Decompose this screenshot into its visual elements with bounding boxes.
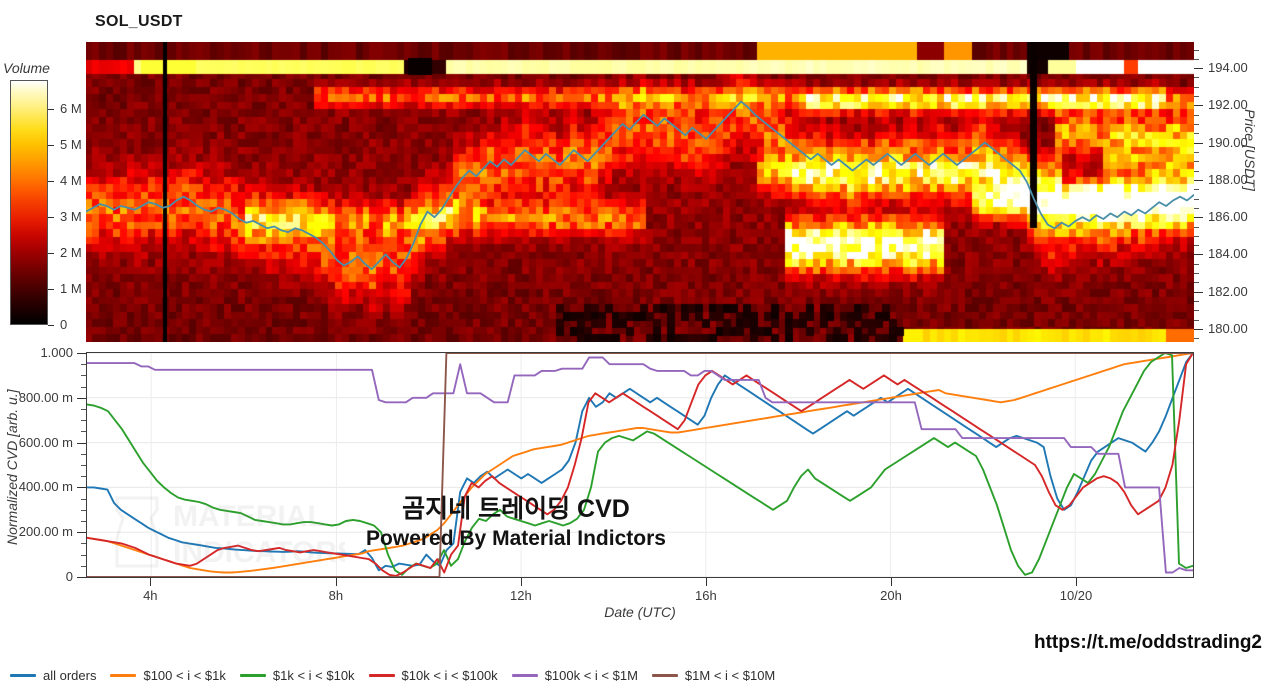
cvd-series-line — [87, 353, 1193, 573]
colorbar-tick — [48, 217, 54, 218]
cvd-axis-tick — [81, 420, 86, 421]
price-axis-tick — [1194, 301, 1199, 302]
price-axis-tick — [1194, 68, 1203, 69]
legend-swatch — [512, 674, 538, 677]
colorbar-tick — [48, 145, 54, 146]
cvd-axis-tick — [77, 353, 86, 354]
cvd-axis-label: 800.00 m — [19, 390, 73, 405]
cvd-axis-tick — [81, 476, 86, 477]
price-axis-label: 182.00 — [1208, 284, 1248, 299]
colorbar-label: Volume — [3, 60, 50, 76]
price-axis-tick — [1194, 143, 1203, 144]
cvd-axis-tick — [81, 543, 86, 544]
x-axis: 4h8h12h16h20h10/20 — [86, 578, 1194, 604]
x-axis-tick — [1076, 578, 1077, 586]
cvd-axis-tick — [81, 387, 86, 388]
legend-item-1[interactable]: $100 < i < $1k — [110, 668, 225, 683]
colorbar-tick-label: 0 — [60, 317, 67, 332]
price-axis-tick — [1194, 329, 1203, 330]
legend-item-3[interactable]: $10k < i < $100k — [369, 668, 498, 683]
cvd-axis-tick — [81, 499, 86, 500]
cvd-axis-tick — [81, 409, 86, 410]
x-axis-tick — [336, 578, 337, 586]
cvd-y-axis-title: Normalized CVD [arb. u.] — [4, 360, 20, 575]
price-axis-tick — [1194, 124, 1199, 125]
legend-label: $1M < i < $10M — [685, 668, 775, 683]
price-axis-tick — [1194, 152, 1199, 153]
price-axis-tick — [1194, 236, 1199, 237]
colorbar-tick — [48, 109, 54, 110]
cvd-axis-tick — [77, 532, 86, 533]
cvd-axis-label: 0 — [66, 569, 73, 584]
colorbar-tick-label: 1 M — [60, 281, 82, 296]
cvd-axis-label: 600.00 m — [19, 435, 73, 450]
cvd-axis-tick — [81, 454, 86, 455]
legend-swatch — [110, 674, 136, 677]
price-axis-tick — [1194, 105, 1203, 106]
cvd-axis-tick — [81, 566, 86, 567]
price-axis-tick — [1194, 189, 1199, 190]
price-axis-tick — [1194, 115, 1199, 116]
volume-colorbar: 6 M5 M4 M3 M2 M1 M0 — [10, 80, 48, 325]
cvd-axis-tick — [77, 487, 86, 488]
price-axis-tick — [1194, 96, 1199, 97]
legend-item-0[interactable]: all orders — [10, 668, 96, 683]
legend-swatch — [10, 674, 36, 677]
x-axis-tick — [150, 578, 151, 586]
colorbar-gradient — [10, 80, 48, 325]
cvd-axis-tick — [81, 510, 86, 511]
legend-swatch — [369, 674, 395, 677]
x-axis-label: 4h — [143, 588, 157, 603]
price-axis-tick — [1194, 208, 1199, 209]
legend-label: $100 < i < $1k — [143, 668, 225, 683]
price-axis-tick — [1194, 310, 1199, 311]
legend-item-5[interactable]: $1M < i < $10M — [652, 668, 775, 683]
legend-swatch — [652, 674, 678, 677]
price-axis-tick — [1194, 320, 1199, 321]
x-axis-label: 20h — [880, 588, 902, 603]
price-axis-tick — [1194, 217, 1203, 218]
price-axis-tick — [1194, 245, 1199, 246]
cvd-plot — [87, 353, 1193, 577]
price-axis-label: 186.00 — [1208, 209, 1248, 224]
price-axis-tick — [1194, 199, 1199, 200]
cvd-axis-tick — [81, 555, 86, 556]
cvd-axis-tick — [81, 521, 86, 522]
price-axis-tick — [1194, 77, 1199, 78]
x-axis-label: 12h — [510, 588, 532, 603]
price-axis-tick — [1194, 338, 1199, 339]
cvd-axis-tick — [81, 375, 86, 376]
legend-item-2[interactable]: $1k < i < $10k — [240, 668, 355, 683]
price-axis-tick — [1194, 292, 1203, 293]
x-axis-title: Date (UTC) — [86, 604, 1194, 620]
price-line — [86, 102, 1194, 270]
x-axis-tick — [706, 578, 707, 586]
colorbar-tick-label: 2 M — [60, 245, 82, 260]
x-axis-tick — [891, 578, 892, 586]
price-axis-tick — [1194, 50, 1199, 51]
cvd-axis-tick — [81, 465, 86, 466]
price-line-overlay — [86, 42, 1194, 342]
telegram-link[interactable]: https://t.me/oddstrading2 — [1034, 632, 1262, 654]
price-axis-tick — [1194, 87, 1199, 88]
cvd-series-line — [87, 353, 1193, 576]
cvd-chart-panel — [86, 352, 1194, 578]
price-axis-tick — [1194, 180, 1203, 181]
price-axis-label: 194.00 — [1208, 60, 1248, 75]
cvd-axis-tick — [77, 577, 86, 578]
cvd-series-line — [87, 358, 1193, 573]
price-axis: 194.00192.00190.00188.00186.00184.00182.… — [1194, 42, 1280, 342]
price-axis-tick — [1194, 161, 1199, 162]
x-axis-label: 8h — [329, 588, 343, 603]
cvd-axis-label: 400.00 m — [19, 479, 73, 494]
price-axis-tick — [1194, 264, 1199, 265]
price-axis-tick — [1194, 133, 1199, 134]
volume-heatmap — [86, 42, 1194, 342]
colorbar-tick-label: 6 M — [60, 101, 82, 116]
x-axis-label: 10/20 — [1060, 588, 1093, 603]
legend-item-4[interactable]: $100k < i < $1M — [512, 668, 638, 683]
cvd-series-line — [87, 353, 1193, 577]
colorbar-tick-label: 5 M — [60, 137, 82, 152]
cvd-axis-tick — [81, 364, 86, 365]
cvd-axis-label: 200.00 m — [19, 524, 73, 539]
price-axis-tick — [1194, 254, 1203, 255]
legend: all orders$100 < i < $1k$1k < i < $10k$1… — [10, 662, 1270, 688]
price-axis-title: Price [USDT] — [1242, 109, 1258, 191]
cvd-axis-tick — [77, 443, 86, 444]
legend-swatch — [240, 674, 266, 677]
price-axis-label: 180.00 — [1208, 321, 1248, 336]
cvd-axis-tick — [77, 398, 86, 399]
price-axis-tick — [1194, 282, 1199, 283]
colorbar-tick-label: 4 M — [60, 173, 82, 188]
colorbar-tick — [48, 289, 54, 290]
price-axis-tick — [1194, 171, 1199, 172]
cvd-axis-label: 1.000 — [40, 345, 73, 360]
price-axis-label: 184.00 — [1208, 246, 1248, 261]
x-axis-tick — [521, 578, 522, 586]
page-title: SOL_USDT — [95, 13, 183, 31]
colorbar-tick — [48, 253, 54, 254]
price-axis-tick — [1194, 59, 1199, 60]
cvd-series-line — [87, 353, 1193, 575]
price-axis-tick — [1194, 227, 1199, 228]
legend-label: $10k < i < $100k — [402, 668, 498, 683]
colorbar-tick — [48, 325, 54, 326]
colorbar-tick — [48, 181, 54, 182]
cvd-axis-tick — [81, 431, 86, 432]
legend-label: $100k < i < $1M — [545, 668, 638, 683]
legend-label: all orders — [43, 668, 96, 683]
cvd-series-line — [87, 353, 1193, 570]
legend-label: $1k < i < $10k — [273, 668, 355, 683]
x-axis-label: 16h — [695, 588, 717, 603]
price-axis-tick — [1194, 273, 1199, 274]
colorbar-tick-label: 3 M — [60, 209, 82, 224]
